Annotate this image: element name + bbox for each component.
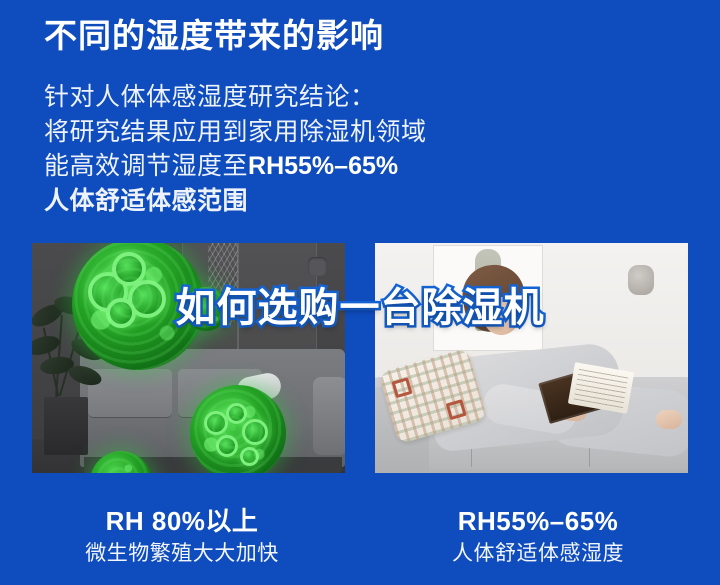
- caption-right-main: RH55%–65%: [373, 505, 703, 538]
- intro-line-3: 能高效调节湿度至RH55%–65%: [44, 149, 427, 184]
- intro-line-3-highlight: RH55%–65%: [248, 152, 398, 180]
- intro-paragraph: 针对人体体感湿度研究结论： 将研究结果应用到家用除湿机领域 能高效调节湿度至RH…: [44, 80, 427, 218]
- right-photo-wall-speaker: [628, 265, 654, 295]
- intro-line-4: 人体舒适体感范围: [44, 184, 427, 219]
- bacteria-sphere-medium: [190, 385, 286, 473]
- overlay-title: 如何选购一台除湿机: [176, 275, 545, 333]
- intro-line-2: 将研究结果应用到家用除湿机领域: [44, 115, 427, 150]
- right-photo-person-foot: [656, 410, 682, 429]
- caption-left: RH 80%以上 微生物繁殖大大加快: [17, 505, 347, 569]
- left-photo-sofa-arm: [313, 377, 345, 455]
- caption-left-sub: 微生物繁殖大大加快: [17, 538, 347, 570]
- intro-line-1: 针对人体体感湿度研究结论：: [44, 80, 427, 115]
- caption-left-main: RH 80%以上: [17, 505, 347, 538]
- caption-right: RH55%–65% 人体舒适体感湿度: [373, 505, 703, 569]
- left-photo-wall-knob: [308, 257, 327, 276]
- caption-right-sub: 人体舒适体感湿度: [373, 538, 703, 570]
- poster-root: 不同的湿度带来的影响 针对人体体感湿度研究结论： 将研究结果应用到家用除湿机领域…: [0, 0, 720, 585]
- intro-line-3-prefix: 能高效调节湿度至: [44, 152, 248, 180]
- page-title: 不同的湿度带来的影响: [44, 16, 384, 56]
